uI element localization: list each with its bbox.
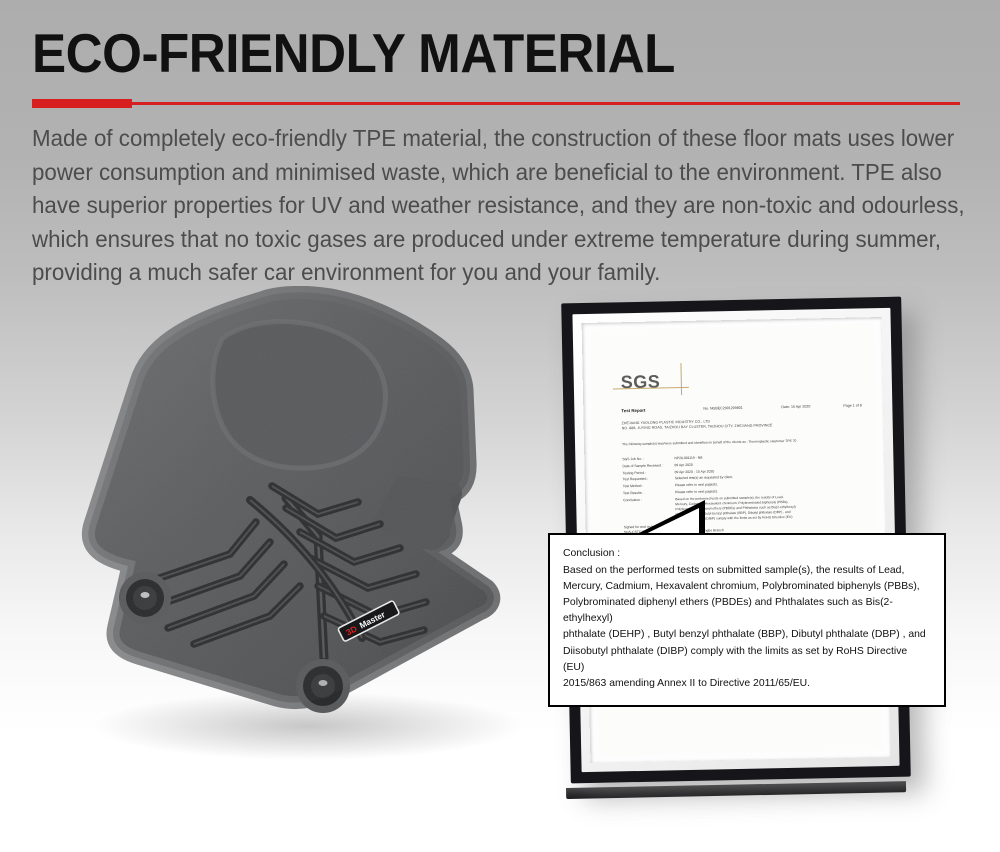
callout-line: phthalate (DEHP) , Butyl benzyl phthalat… <box>563 627 931 643</box>
divider-thin-line <box>32 102 960 105</box>
intro-paragraph: Made of completely eco-friendly TPE mate… <box>32 122 944 290</box>
field-key: Test Requested : <box>623 477 675 483</box>
callout-line: Diisobutyl phthalate (DIBP) comply with … <box>563 644 931 676</box>
sample-description: The following sample(s) was/were submitt… <box>622 437 882 447</box>
client-address-block: ZHEJIANG YAOLONG PLASTIC INDUSTRY CO., L… <box>622 416 883 432</box>
intro-line: Made of completely eco-friendly TPE mate… <box>32 122 944 156</box>
floor-mat-illustration: 3D Master <box>18 286 588 772</box>
intro-line: power consumption and minimised waste, w… <box>32 156 944 190</box>
field-value: Based on the performed tests on submitte… <box>675 493 882 522</box>
frame-bottom-edge <box>566 781 906 799</box>
report-number: No. NGBEC2001209801 <box>703 405 781 413</box>
field-key: SGS Job No. : <box>622 456 674 462</box>
field-key: Test Results : <box>623 490 675 496</box>
report-date: Date: 15 Apr 2020 <box>781 404 843 412</box>
title-divider <box>32 99 960 108</box>
intro-line: providing a much safer car environment f… <box>32 256 944 290</box>
page-title: ECO-FRIENDLY MATERIAL <box>32 24 675 82</box>
field-key: Test Method : <box>623 484 675 490</box>
report-page: Page 1 of 8 <box>843 403 862 410</box>
divider-thick-line <box>32 99 132 108</box>
sgs-logo: SGS <box>621 368 661 395</box>
field-key: Testing Period : <box>623 470 675 476</box>
callout-line: 2015/863 amending Annex II to Directive … <box>563 676 931 692</box>
report-label: Test Report <box>621 407 703 415</box>
callout-line: Polybrominated diphenyl ethers (PBDEs) a… <box>563 595 931 627</box>
intro-line: which ensures that no toxic gases are pr… <box>32 223 944 257</box>
callout-line: Mercury, Cadmium, Hexavalent chromium, P… <box>563 579 931 595</box>
product-image-floor-mat: 3D Master <box>18 286 588 772</box>
callout-conclusion: Conclusion : Based on the performed test… <box>548 533 946 707</box>
promo-banner: ECO-FRIENDLY MATERIAL Made of completely… <box>0 0 1000 852</box>
intro-line: have superior properties for UV and weat… <box>32 189 944 223</box>
callout-heading: Conclusion : <box>563 546 931 562</box>
callout-line: Based on the performed tests on submitte… <box>563 563 931 579</box>
field-key: Date of Sample Received : <box>622 463 674 469</box>
report-header-row: Test Report No. NGBEC2001209801 Date: 15… <box>621 403 882 415</box>
